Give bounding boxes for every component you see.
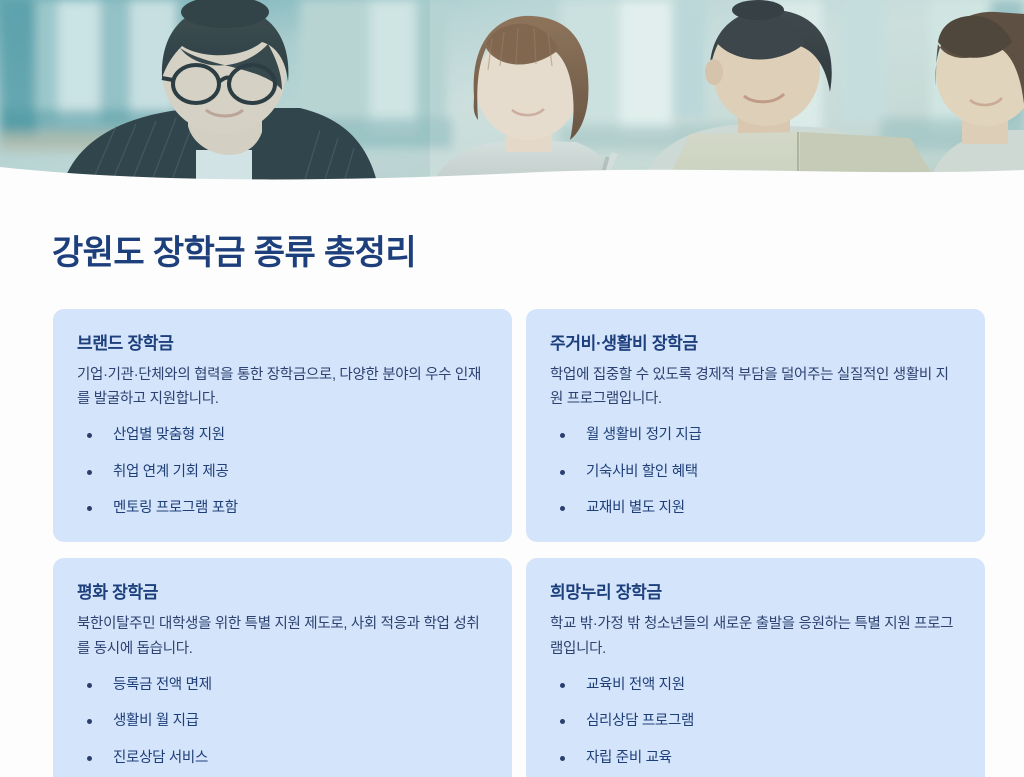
bullet-icon xyxy=(560,683,565,688)
bullet-icon xyxy=(87,756,92,761)
list-item-label: 교육비 전액 지원 xyxy=(586,677,685,693)
list-item: 교재비 별도 지원 xyxy=(550,497,961,519)
list-item-label: 등록금 전액 면제 xyxy=(113,677,212,693)
card-title: 평화 장학금 xyxy=(77,578,488,603)
list-item-label: 진로상담 서비스 xyxy=(113,750,208,766)
card-title: 주거비·생활비 장학금 xyxy=(550,329,961,354)
scholarship-card: 주거비·생활비 장학금 학업에 집중할 수 있도록 경제적 부담을 덜어주는 실… xyxy=(526,309,985,542)
list-item: 진로상담 서비스 xyxy=(77,747,488,769)
list-item-label: 멘토링 프로그램 포함 xyxy=(113,500,238,516)
hero-banner xyxy=(0,0,1024,196)
list-item: 심리상담 프로그램 xyxy=(550,710,961,732)
card-feature-list: 월 생활비 정기 지급 기숙사비 할인 혜택 교재비 별도 지원 xyxy=(550,424,961,519)
scholarship-card: 브랜드 장학금 기업·기관·단체와의 협력을 통한 장학금으로, 다양한 분야의… xyxy=(53,309,512,542)
bullet-icon xyxy=(87,683,92,688)
card-feature-list: 산업별 맞춤형 지원 취업 연계 기회 제공 멘토링 프로그램 포함 xyxy=(77,424,488,519)
list-item: 월 생활비 정기 지급 xyxy=(550,424,961,446)
list-item-label: 산업별 맞춤형 지원 xyxy=(113,427,225,443)
list-item-label: 취업 연계 기회 제공 xyxy=(113,464,229,480)
card-description: 학업에 집중할 수 있도록 경제적 부담을 덜어주는 실질적인 생활비 지원 프… xyxy=(550,363,961,413)
card-description: 기업·기관·단체와의 협력을 통한 장학금으로, 다양한 분야의 우수 인재를 … xyxy=(77,363,488,413)
list-item: 자립 준비 교육 xyxy=(550,747,961,769)
list-item-label: 생활비 월 지급 xyxy=(113,713,199,729)
bullet-icon xyxy=(560,506,565,511)
page-root: 강원도 장학금 종류 총정리 브랜드 장학금 기업·기관·단체와의 협력을 통한… xyxy=(0,0,1024,777)
list-item: 취업 연계 기회 제공 xyxy=(77,461,488,483)
card-feature-list: 교육비 전액 지원 심리상담 프로그램 자립 준비 교육 xyxy=(550,674,961,769)
bullet-icon xyxy=(87,433,92,438)
bullet-icon xyxy=(560,433,565,438)
page-title: 강원도 장학금 종류 총정리 xyxy=(0,196,1024,275)
list-item: 멘토링 프로그램 포함 xyxy=(77,497,488,519)
main-content: 강원도 장학금 종류 총정리 브랜드 장학금 기업·기관·단체와의 협력을 통한… xyxy=(0,196,1024,777)
list-item: 생활비 월 지급 xyxy=(77,710,488,732)
bullet-icon xyxy=(560,470,565,475)
card-description: 북한이탈주민 대학생을 위한 특별 지원 제도로, 사회 적응과 학업 성취를 … xyxy=(77,612,488,662)
bullet-icon xyxy=(87,506,92,511)
list-item-label: 심리상담 프로그램 xyxy=(586,713,694,729)
card-description: 학교 밖·가정 밖 청소년들의 새로운 출발을 응원하는 특별 지원 프로그램입… xyxy=(550,612,961,662)
card-title: 브랜드 장학금 xyxy=(77,329,488,354)
card-title: 희망누리 장학금 xyxy=(550,578,961,603)
bullet-icon xyxy=(87,470,92,475)
list-item: 산업별 맞춤형 지원 xyxy=(77,424,488,446)
list-item-label: 교재비 별도 지원 xyxy=(586,500,685,516)
bullet-icon xyxy=(560,756,565,761)
list-item-label: 자립 준비 교육 xyxy=(586,750,672,766)
list-item-label: 기숙사비 할인 혜택 xyxy=(586,464,698,480)
card-feature-list: 등록금 전액 면제 생활비 월 지급 진로상담 서비스 xyxy=(77,674,488,769)
list-item: 기숙사비 할인 혜택 xyxy=(550,461,961,483)
scholarship-card-grid: 브랜드 장학금 기업·기관·단체와의 협력을 통한 장학금으로, 다양한 분야의… xyxy=(0,275,1024,777)
scholarship-card: 평화 장학금 북한이탈주민 대학생을 위한 특별 지원 제도로, 사회 적응과 … xyxy=(53,558,512,777)
bullet-icon xyxy=(87,719,92,724)
list-item: 교육비 전액 지원 xyxy=(550,674,961,696)
scholarship-card: 희망누리 장학금 학교 밖·가정 밖 청소년들의 새로운 출발을 응원하는 특별… xyxy=(526,558,985,777)
hero-photo xyxy=(0,0,1024,196)
bullet-icon xyxy=(560,719,565,724)
list-item-label: 월 생활비 정기 지급 xyxy=(586,427,702,443)
list-item: 등록금 전액 면제 xyxy=(77,674,488,696)
